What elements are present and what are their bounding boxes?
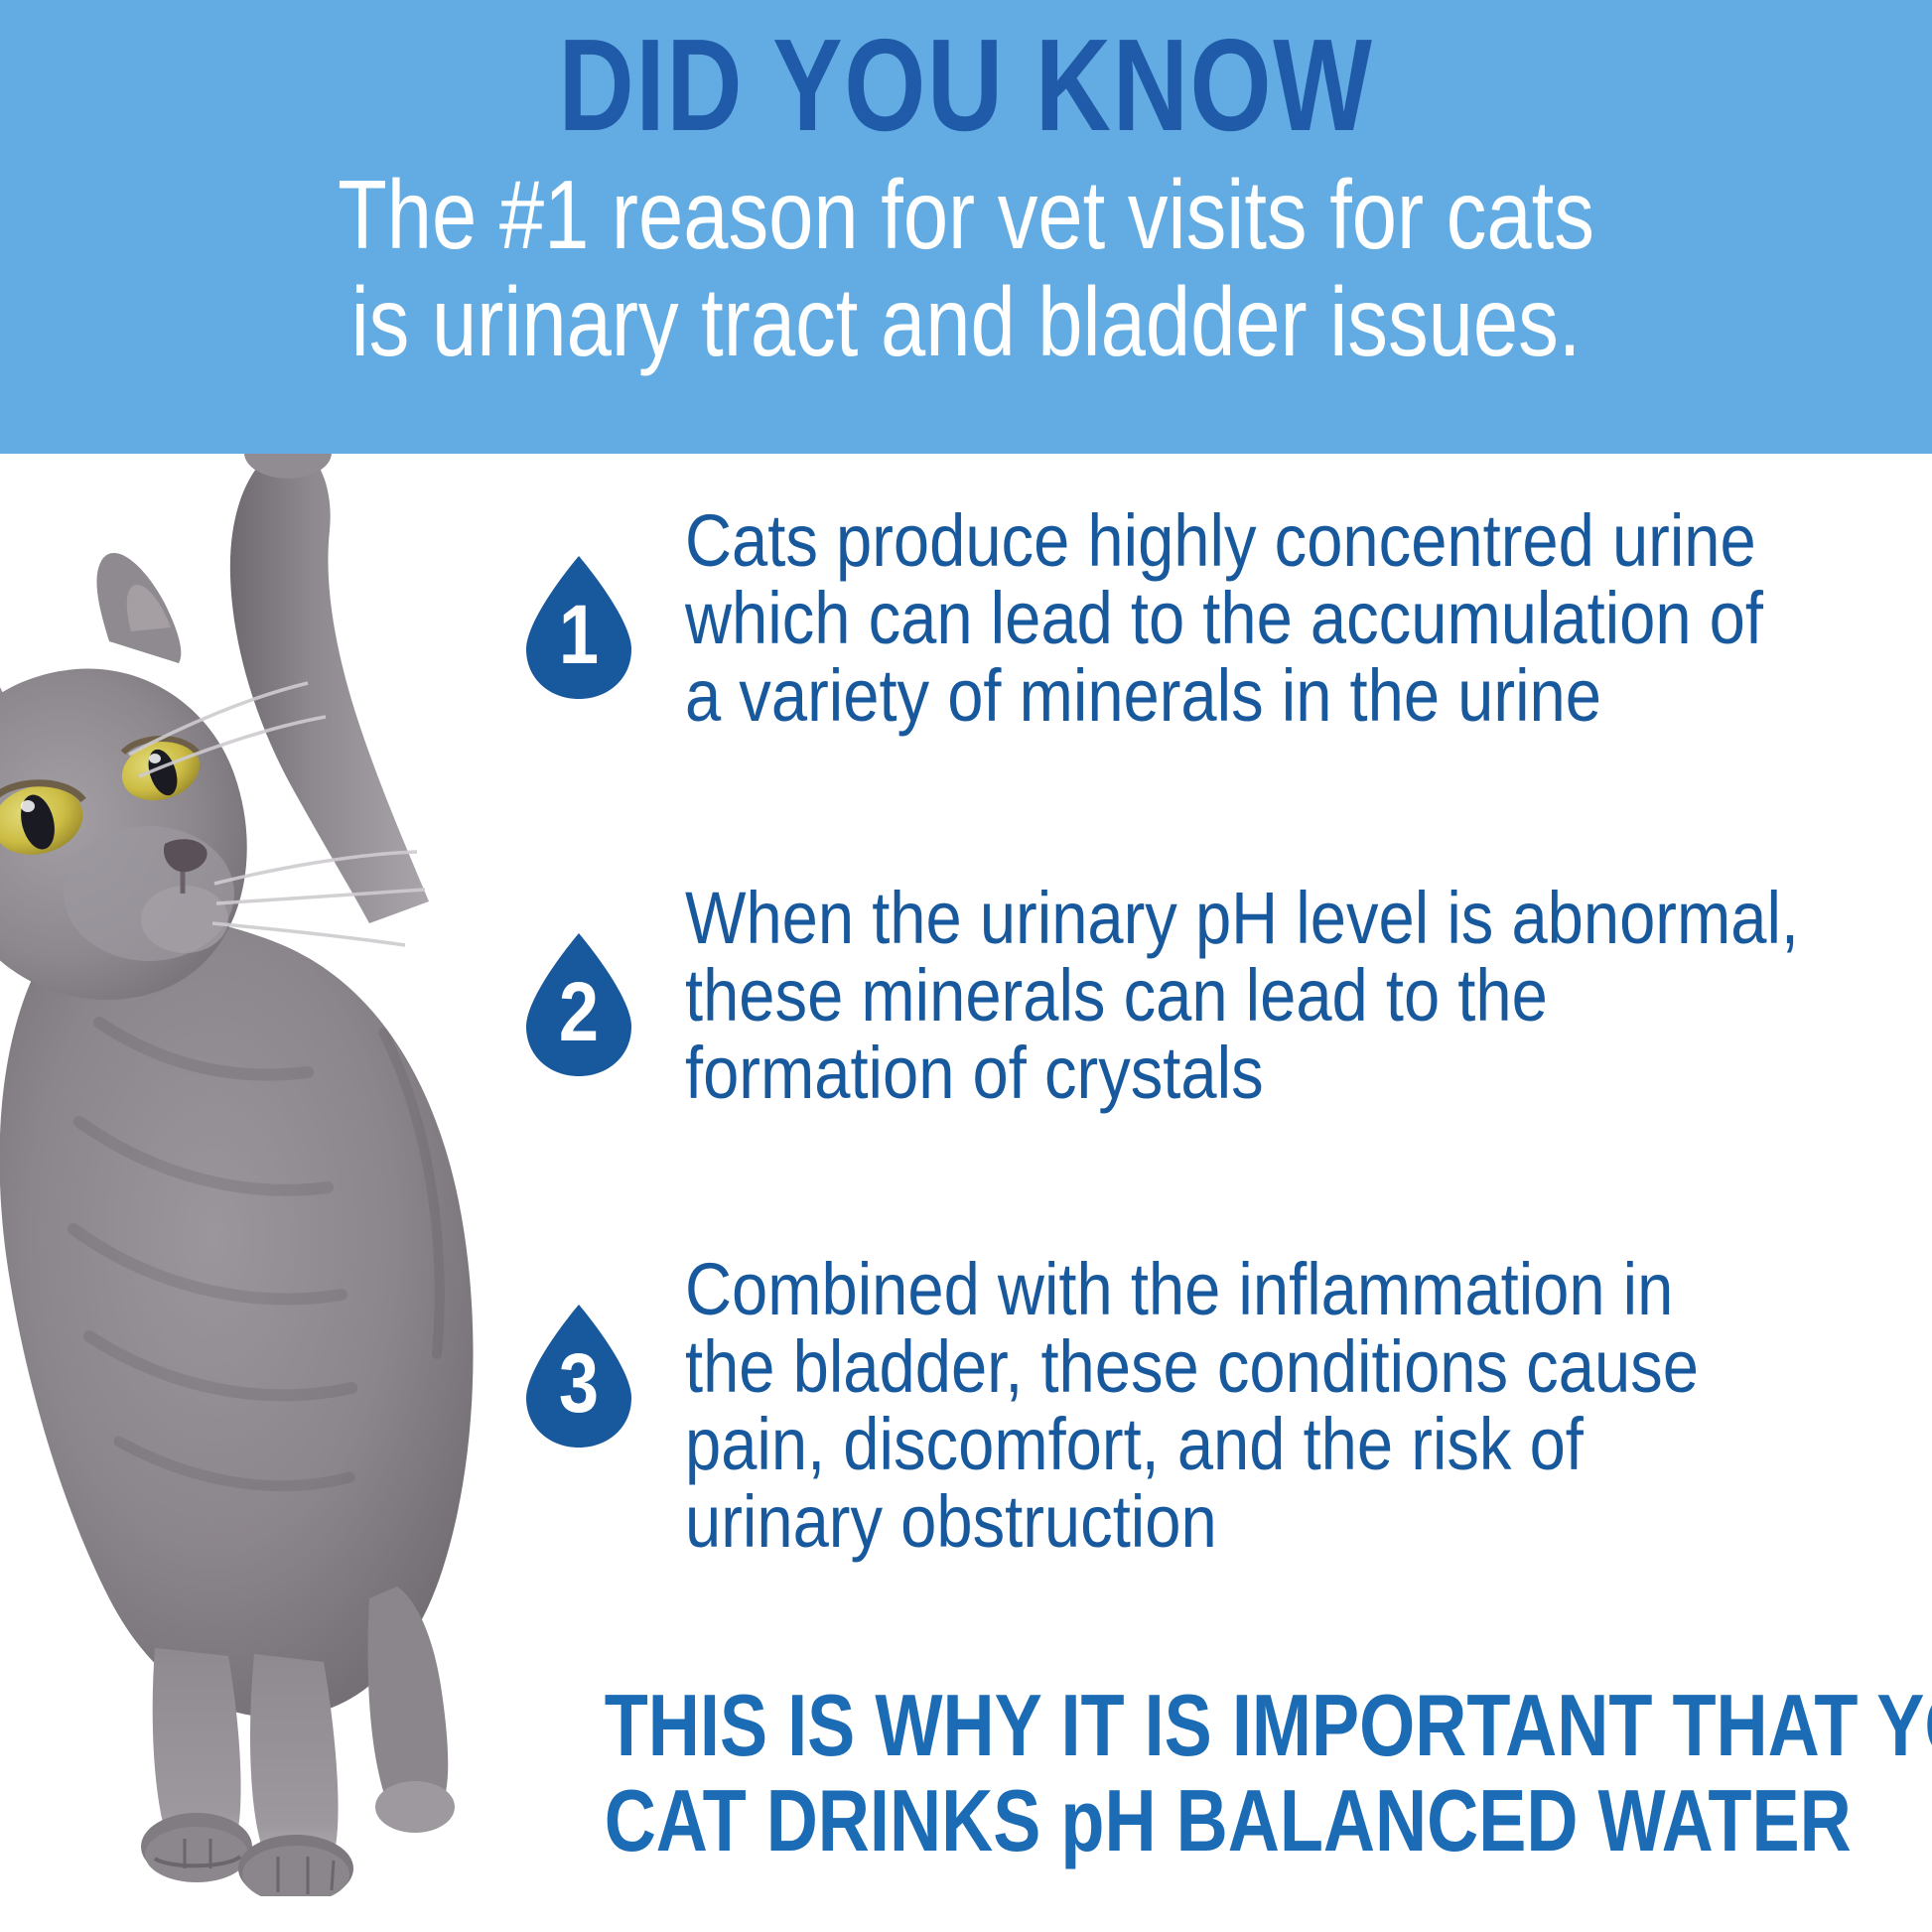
- fact-3-line-2: the bladder, these conditions cause: [685, 1328, 1699, 1406]
- page-title: DID YOU KNOW: [194, 22, 1739, 149]
- infographic-page: DID YOU KNOW The #1 reason for vet visit…: [0, 0, 1932, 1932]
- fact-2-line-3: formation of crystals: [685, 1035, 1799, 1112]
- fact-1-line-3: a variety of minerals in the urine: [685, 657, 1763, 735]
- fact-text-1: Cats produce highly concentred urine whi…: [685, 502, 1763, 735]
- page-subtitle: The #1 reason for vet visits for cats is…: [164, 161, 1767, 375]
- cat-chin: [141, 886, 228, 953]
- fact-3-line-4: urinary obstruction: [685, 1483, 1699, 1561]
- cat-hind-paw: [375, 1781, 455, 1833]
- water-drop-icon-3: 3: [520, 1301, 637, 1451]
- fact-text-3: Combined with the inflammation in the bl…: [685, 1251, 1699, 1561]
- fact-1-line-1: Cats produce highly concentred urine: [685, 502, 1763, 580]
- water-drop-icon-1: 1: [520, 552, 637, 703]
- fact-2-line-2: these minerals can lead to the: [685, 957, 1799, 1035]
- subtitle-line-1: The #1 reason for vet visits for cats: [164, 161, 1767, 268]
- fact-3-line-3: pain, discomfort, and the risk of: [685, 1406, 1699, 1483]
- water-drop-icon-2: 2: [520, 929, 637, 1080]
- subtitle-line-2: is urinary tract and bladder issues.: [164, 268, 1767, 375]
- cat-photo: [0, 427, 536, 1896]
- fact-3-line-1: Combined with the inflammation in: [685, 1251, 1699, 1328]
- footer-tagline: THIS IS WHY IT IS IMPORTANT THAT YOUR CA…: [605, 1678, 1769, 1868]
- tagline-line-2: CAT DRINKS pH BALANCED WATER: [605, 1773, 1769, 1868]
- fact-1-line-2: which can lead to the accumulation of: [685, 580, 1763, 657]
- tagline-line-1: THIS IS WHY IT IS IMPORTANT THAT YOUR: [605, 1678, 1769, 1773]
- fact-2-line-1: When the urinary pH level is abnormal,: [685, 880, 1799, 957]
- header-band: DID YOU KNOW The #1 reason for vet visit…: [0, 0, 1932, 454]
- fact-text-2: When the urinary pH level is abnormal, t…: [685, 880, 1799, 1112]
